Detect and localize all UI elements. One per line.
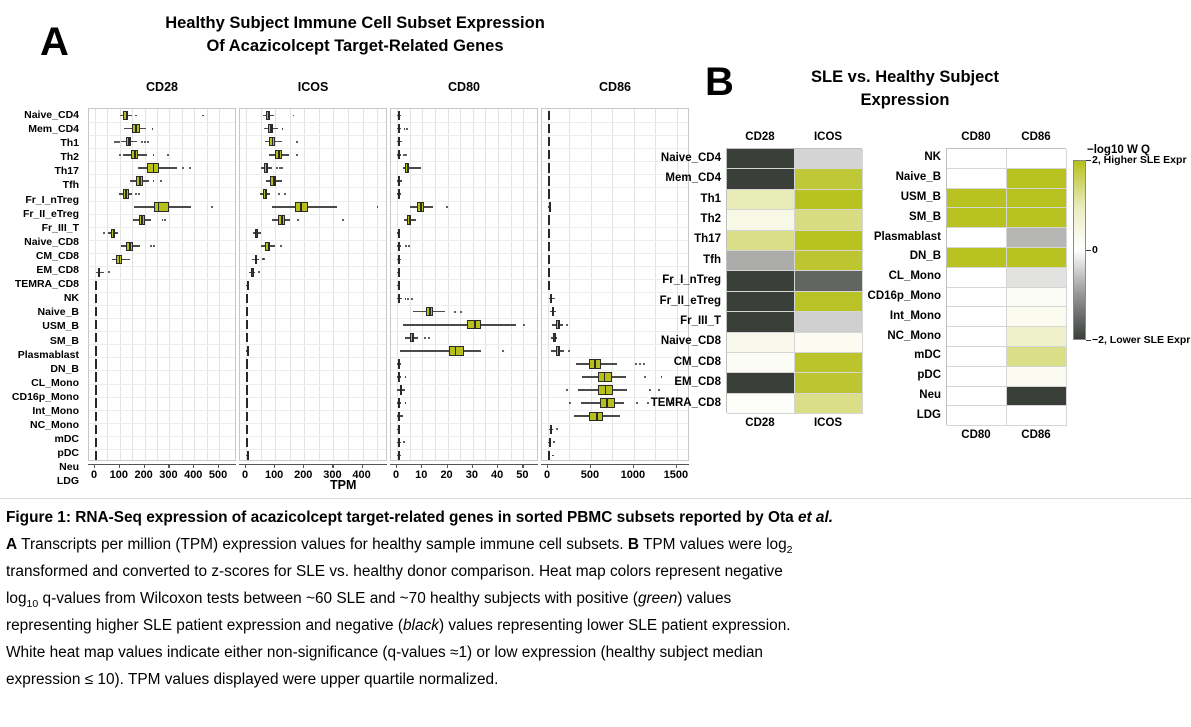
boxplot-box — [548, 124, 550, 133]
boxplot-median — [278, 150, 280, 159]
boxplot-box — [398, 294, 400, 303]
boxplot-box — [398, 242, 400, 251]
heatmap-cell — [1007, 347, 1067, 367]
boxplot-row — [89, 397, 235, 410]
boxplot-median — [128, 137, 130, 146]
boxplot-row — [89, 148, 235, 161]
boxplot-row — [240, 318, 386, 331]
heatmap-cell — [727, 169, 795, 189]
heatmap-column-label-cd28: CD28 — [726, 417, 794, 429]
boxplot-outlier — [428, 337, 430, 339]
boxplot-row — [542, 423, 688, 436]
boxplot-outlier — [147, 141, 149, 143]
boxplot-row — [240, 436, 386, 449]
panel-a-category-label: DN_B — [0, 362, 84, 376]
heatmap-cell — [947, 189, 1007, 209]
boxplot-median — [455, 346, 457, 355]
boxplot-box — [398, 438, 400, 447]
panel-a-category-label: Naive_CD8 — [0, 235, 84, 249]
heatmap-cell — [947, 387, 1007, 407]
panel-a-category-label: pDC — [0, 446, 84, 460]
boxplot-row — [391, 227, 537, 240]
boxplot-outlier — [160, 180, 162, 182]
heatmap-row-label: Th1 — [606, 193, 726, 205]
boxplot-median — [407, 163, 409, 172]
boxplot-box — [246, 385, 248, 394]
boxplot-outlier — [424, 337, 426, 339]
caption-line-2-text2: TPM values were log — [639, 536, 787, 553]
boxplot-outlier — [407, 298, 409, 300]
panel-b-title: SLE vs. Healthy Subject Expression — [740, 66, 1070, 113]
boxplot-row — [240, 201, 386, 214]
heatmap-row-label: TEMRA_CD8 — [606, 397, 726, 409]
axis-tick — [119, 464, 120, 468]
panel-a-category-label: NK — [0, 291, 84, 305]
axis-tick — [633, 464, 634, 468]
boxplot-box — [246, 294, 248, 303]
boxplot-box — [548, 137, 550, 146]
heatmap-row-label: pDC — [831, 369, 946, 381]
legend-tick-label: −2, Lower SLE Expr — [1092, 334, 1190, 346]
heatmap-row-label: Plasmablast — [831, 231, 946, 243]
boxplot-row — [240, 148, 386, 161]
heatmap-row-label: Neu — [831, 389, 946, 401]
boxplot-row — [240, 135, 386, 148]
heatmap-row-label: DN_B — [831, 250, 946, 262]
boxplot-row — [240, 227, 386, 240]
caption-line-3: transformed and converted to z-scores fo… — [6, 559, 1186, 586]
panel-a-category-label: SM_B — [0, 334, 84, 348]
boxplot-whisker — [400, 350, 482, 352]
axis-tick-label: 400 — [184, 469, 202, 481]
boxplot-median — [474, 320, 476, 329]
figure-1: A Healthy Subject Immune Cell Subset Exp… — [0, 0, 1191, 727]
heatmap-row-label: Int_Mono — [831, 310, 946, 322]
boxplot-row — [240, 174, 386, 187]
axis-line — [239, 464, 387, 465]
boxplot-outlier — [135, 193, 137, 195]
caption-line-5-tail: ) values representing lower SLE patient … — [439, 617, 791, 634]
heatmap-cell — [947, 149, 1007, 169]
boxplot-row — [89, 436, 235, 449]
heatmap-cell — [947, 208, 1007, 228]
legend-color-bar — [1073, 160, 1086, 340]
axis-tick — [396, 464, 397, 468]
boxplot-outlier — [141, 141, 143, 143]
heatmap-column-label-icos: ICOS — [794, 131, 862, 143]
axis-tick — [421, 464, 422, 468]
boxplot-panel-icos — [239, 108, 387, 461]
panel-b-letter: B — [705, 62, 734, 102]
boxplot-row — [89, 187, 235, 200]
caption-line-7: expression ≤ 10). TPM values displayed w… — [6, 667, 1186, 694]
boxplot-median — [134, 150, 136, 159]
boxplot-outlier — [152, 128, 154, 130]
heatmap-cell — [947, 406, 1007, 426]
boxplot-box — [550, 294, 552, 303]
axis-tick-label: 10 — [415, 469, 427, 481]
heatmap-cell — [947, 327, 1007, 347]
boxplot-outlier — [167, 154, 169, 156]
heatmap-cell — [947, 288, 1007, 308]
boxplot-outlier — [280, 245, 282, 247]
axis-line — [390, 464, 538, 465]
boxplot-box — [247, 281, 249, 290]
heatmap-cell — [727, 333, 795, 353]
panel-b-title-line-1: SLE vs. Healthy Subject — [740, 66, 1070, 89]
boxplot-outlier — [342, 219, 344, 221]
heatmap-cell — [727, 271, 795, 291]
axis-tick — [362, 464, 363, 468]
boxplot-box — [550, 425, 552, 434]
axis-tick — [144, 464, 145, 468]
boxplot-row — [391, 266, 537, 279]
xaxis-cd80: 01020304050 — [390, 464, 538, 486]
boxplot-box — [95, 398, 97, 407]
axis-tick-label: 100 — [265, 469, 283, 481]
heatmap-cell — [1007, 367, 1067, 387]
boxplot-row — [391, 161, 537, 174]
heatmap-cell — [727, 190, 795, 210]
boxplot-row — [542, 449, 688, 462]
boxplot-outlier — [523, 324, 525, 326]
boxplot-row — [391, 423, 537, 436]
heatmap-grid — [946, 148, 1066, 425]
boxplot-box — [398, 359, 400, 368]
boxplot-row — [240, 187, 386, 200]
boxplot-box — [398, 229, 400, 238]
heatmap-cell — [1007, 327, 1067, 347]
boxplot-median — [135, 124, 137, 133]
gene-header-row: CD28ICOSCD80CD86 — [88, 80, 686, 98]
boxplot-row — [391, 109, 537, 122]
boxplot-median — [268, 242, 270, 251]
panel-a: A Healthy Subject Immune Cell Subset Exp… — [0, 0, 690, 500]
heatmap-row-label: Naive_CD8 — [606, 335, 726, 347]
boxplot-outlier — [202, 115, 204, 117]
heatmap-row-label: Naive_B — [831, 171, 946, 183]
boxplot-row — [89, 357, 235, 370]
heatmap-row-label: Fr_II_eTreg — [606, 295, 726, 307]
axis-tick — [497, 464, 498, 468]
heatmap-cell — [1007, 228, 1067, 248]
heatmap-row-label: NK — [831, 151, 946, 163]
boxplot-outlier — [403, 441, 405, 443]
heatmap-cell — [727, 149, 795, 169]
boxplot-row — [542, 410, 688, 423]
boxplot-outlier — [658, 389, 660, 391]
caption-line-2-text: Transcripts per million (TPM) expression… — [17, 536, 628, 553]
boxplot-outlier — [189, 167, 191, 169]
boxplot-box — [95, 372, 97, 381]
gene-header-cd80: CD80 — [390, 80, 538, 94]
panel-a-category-label: Naive_CD4 — [0, 108, 84, 122]
boxplot-row — [89, 423, 235, 436]
boxplot-box — [400, 385, 403, 394]
boxplot-row — [89, 214, 235, 227]
panel-a-category-label: USM_B — [0, 319, 84, 333]
legend-tick-mark — [1086, 340, 1091, 341]
boxplot-row — [89, 253, 235, 266]
heatmap-cell — [1007, 248, 1067, 268]
boxplot-box — [548, 242, 550, 251]
boxplot-row — [89, 279, 235, 292]
boxplot-outlier — [284, 193, 286, 195]
heatmap-row-label: Th2 — [606, 213, 726, 225]
axis-tick-label: 1500 — [664, 469, 688, 481]
boxplot-row — [89, 410, 235, 423]
boxplot-box — [246, 372, 248, 381]
boxplot-row — [89, 318, 235, 331]
boxplot-median — [125, 189, 127, 198]
boxplot-row — [240, 384, 386, 397]
axis-tick-label: 300 — [159, 469, 177, 481]
axis-tick — [245, 464, 246, 468]
gene-header-cd28: CD28 — [88, 80, 236, 94]
boxplot-row — [391, 344, 537, 357]
boxplot-box — [95, 385, 97, 394]
boxplot-box — [95, 451, 97, 460]
boxplot-box — [247, 346, 249, 355]
gene-header-cd86: CD86 — [541, 80, 689, 94]
boxplot-outlier — [553, 441, 555, 443]
axis-tick — [676, 464, 677, 468]
heatmap-cell — [947, 347, 1007, 367]
caption-panel-b-ref: B — [628, 536, 639, 553]
boxplot-median — [270, 124, 272, 133]
boxplot-row — [391, 148, 537, 161]
heatmap-cell — [727, 373, 795, 393]
heatmap-row-label: Tfh — [606, 254, 726, 266]
panel-a-category-label: Mem_CD4 — [0, 122, 84, 136]
boxplot-outlier — [135, 115, 137, 117]
boxplot-outlier — [405, 245, 407, 247]
panel-a-letter: A — [40, 22, 69, 62]
caption-line-1: Figure 1: RNA-Seq expression of acazicol… — [6, 505, 1186, 532]
boxplot-row — [391, 122, 537, 135]
boxplot-median — [558, 346, 560, 355]
heatmap-row-label: NC_Mono — [831, 330, 946, 342]
boxplot-box — [548, 163, 550, 172]
boxplot-row — [240, 122, 386, 135]
axis-tick-label: 200 — [134, 469, 152, 481]
caption-green-italic: green — [638, 590, 677, 607]
heatmap-row-label: USM_B — [831, 191, 946, 203]
legend-tick-mark — [1086, 250, 1091, 251]
panel-a-category-label: NC_Mono — [0, 418, 84, 432]
boxplot-outlier — [164, 219, 166, 221]
boxplot-outlier — [408, 245, 410, 247]
heatmap-column-label-cd28: CD28 — [726, 131, 794, 143]
heatmap-cell — [727, 210, 795, 230]
axis-tick — [332, 464, 333, 468]
boxplot-row — [89, 240, 235, 253]
heatmap-cell — [727, 292, 795, 312]
boxplot-box — [398, 268, 400, 277]
boxplot-row — [391, 292, 537, 305]
boxplot-row — [89, 122, 235, 135]
boxplot-box — [95, 359, 97, 368]
boxplot-row — [391, 384, 537, 397]
axis-tick — [472, 464, 473, 468]
boxplot-row — [240, 423, 386, 436]
caption-line-2: A Transcripts per million (TPM) expressi… — [6, 532, 1186, 559]
boxplot-median — [119, 255, 121, 264]
panel-b-title-line-2: Expression — [740, 89, 1070, 112]
axis-tick — [193, 464, 194, 468]
boxplot-row — [89, 331, 235, 344]
panel-b: B SLE vs. Healthy Subject Expression CD2… — [690, 0, 1191, 500]
boxplot-box — [95, 294, 97, 303]
boxplot-row — [542, 135, 688, 148]
heatmap-cell — [727, 251, 795, 271]
caption-line-5-text: representing higher SLE patient expressi… — [6, 617, 403, 634]
axis-tick-label: 20 — [440, 469, 452, 481]
boxplot-panel-cd80 — [390, 108, 538, 461]
panel-a-category-label: Th17 — [0, 164, 84, 178]
boxplot-row — [240, 344, 386, 357]
boxplot-outlier — [296, 141, 298, 143]
boxplot-box — [246, 333, 248, 342]
gene-header-icos: ICOS — [239, 80, 387, 94]
legend-tick-label: 0 — [1092, 244, 1098, 256]
heatmap-cell — [947, 268, 1007, 288]
boxplot-box — [548, 451, 550, 460]
boxplot-row — [391, 436, 537, 449]
boxplot-outlier — [281, 167, 283, 169]
boxplot-outlier — [569, 402, 571, 404]
boxplot-row — [240, 240, 386, 253]
boxplot-box — [553, 333, 555, 342]
boxplot-box — [549, 438, 551, 447]
boxplot-row — [391, 240, 537, 253]
boxplot-row — [391, 279, 537, 292]
panel-a-category-label: Naive_B — [0, 305, 84, 319]
boxplot-box — [95, 438, 97, 447]
heatmap-row-label: Fr_I_nTreg — [606, 274, 726, 286]
boxplot-box — [98, 268, 101, 277]
boxplot-outlier — [405, 402, 407, 404]
panel-a-category-label: Plasmablast — [0, 348, 84, 362]
heatmap-cell — [727, 231, 795, 251]
boxplot-box — [95, 346, 97, 355]
boxplot-box — [247, 451, 249, 460]
heatmap-cell — [727, 312, 795, 332]
boxplot-box — [549, 202, 551, 211]
caption-figure-label: Figure 1: RNA-Seq expression of acazicol… — [6, 509, 798, 526]
heatmap-column-label-cd86: CD86 — [1006, 131, 1066, 143]
boxplot-box — [95, 333, 97, 342]
boxplot-outlier — [282, 128, 284, 130]
boxplot-box — [246, 359, 248, 368]
boxplot-box — [398, 281, 400, 290]
boxplot-row — [89, 344, 235, 357]
panel-a-title: Healthy Subject Immune Cell Subset Expre… — [85, 12, 625, 59]
boxplot-row — [89, 201, 235, 214]
boxplot-box — [398, 412, 400, 421]
axis-tick-label: 100 — [110, 469, 128, 481]
panel-a-title-line-1: Healthy Subject Immune Cell Subset Expre… — [85, 12, 625, 35]
boxplot-outlier — [566, 324, 568, 326]
boxplot-outlier — [138, 193, 140, 195]
panel-a-category-label: TEMRA_CD8 — [0, 277, 84, 291]
boxplot-median — [273, 176, 275, 185]
boxplot-median — [141, 215, 143, 224]
axis-tick-label: 40 — [491, 469, 503, 481]
heatmap-cell — [1007, 307, 1067, 327]
heatmap-row-label: SM_B — [831, 211, 946, 223]
boxplot-row — [240, 410, 386, 423]
panel-a-category-label: Fr_I_nTreg — [0, 193, 84, 207]
boxplot-row — [89, 370, 235, 383]
axis-tick-label: 50 — [516, 469, 528, 481]
caption-black-italic: black — [403, 617, 439, 634]
boxplot-outlier — [258, 271, 260, 273]
axis-tick — [303, 464, 304, 468]
panel-a-category-label: Neu — [0, 460, 84, 474]
axis-tick — [522, 464, 523, 468]
boxplot-outlier — [211, 206, 213, 208]
axis-tick — [168, 464, 169, 468]
heatmap-cell — [947, 228, 1007, 248]
boxplot-outlier — [182, 167, 184, 169]
xaxis-icos: 0100200300400 — [239, 464, 387, 486]
boxplot-outlier — [566, 389, 568, 391]
caption-panel-a-ref: A — [6, 536, 17, 553]
panel-a-category-labels: Naive_CD4Mem_CD4Th1Th2Th17TfhFr_I_nTregF… — [0, 108, 84, 489]
boxplot-row — [391, 370, 537, 383]
boxplot-box — [398, 425, 400, 434]
axis-tick — [274, 464, 275, 468]
boxplot-box — [552, 307, 554, 316]
boxplot-box — [548, 215, 550, 224]
boxplot-box — [246, 412, 248, 421]
boxplot-box — [398, 150, 400, 159]
boxplot-row — [240, 305, 386, 318]
boxplot-row — [240, 449, 386, 462]
heatmap-column-label-cd80: CD80 — [946, 429, 1006, 441]
heatmap-cell — [727, 353, 795, 373]
boxplot-row — [89, 266, 235, 279]
boxplot-box — [548, 150, 550, 159]
boxplot-median — [126, 111, 128, 120]
boxplot-row — [240, 357, 386, 370]
axis-tick-label: 0 — [91, 469, 97, 481]
boxplot-outlier — [649, 389, 651, 391]
boxplot-outlier — [460, 311, 462, 313]
boxplot-row — [240, 292, 386, 305]
boxplot-row — [391, 357, 537, 370]
boxplot-outlier — [454, 311, 456, 313]
boxplot-median — [420, 202, 422, 211]
boxplot-median — [265, 189, 267, 198]
boxplot-row — [240, 266, 386, 279]
boxplot-box — [246, 425, 248, 434]
heatmap-row-label: Mem_CD4 — [606, 172, 726, 184]
boxplot-box — [255, 255, 257, 264]
panel-a-category-label: Fr_III_T — [0, 221, 84, 235]
axis-line — [541, 464, 689, 465]
boxplot-box — [548, 229, 550, 238]
boxplot-box — [449, 346, 464, 355]
axis-tick-label: 500 — [209, 469, 227, 481]
caption-line-4-tail: ) values — [677, 590, 731, 607]
boxplot-row — [89, 109, 235, 122]
panel-a-category-label: CD16p_Mono — [0, 390, 84, 404]
axis-tick-label: 1000 — [621, 469, 645, 481]
heatmap-cell — [727, 394, 795, 414]
heatmap-row-label: Naive_CD4 — [606, 152, 726, 164]
